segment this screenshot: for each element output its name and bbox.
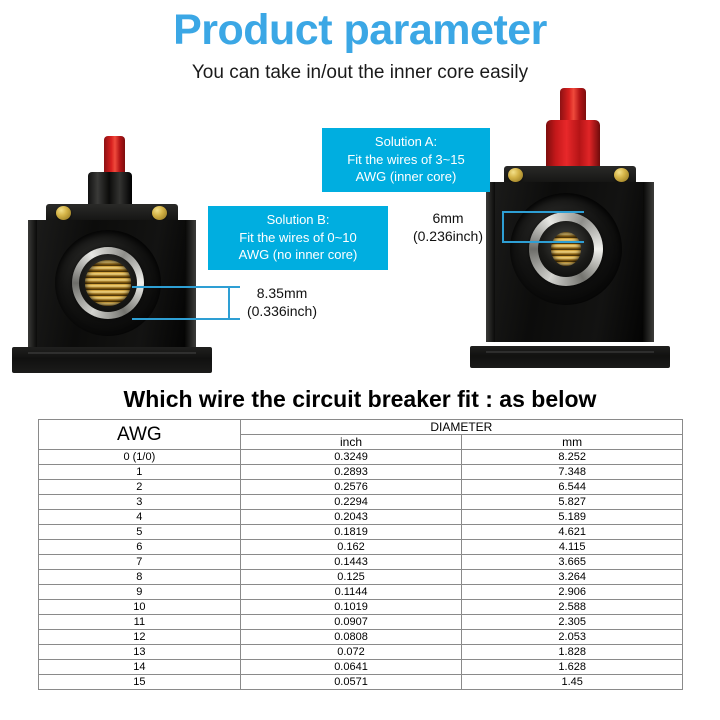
cell-awg: 15: [39, 675, 241, 690]
cell-inch: 0.1019: [240, 600, 462, 615]
terminal-screw-right-b: [614, 168, 629, 182]
table-row: 40.20435.189: [39, 510, 683, 525]
cell-awg: 1: [39, 465, 241, 480]
table-head: AWG DIAMETER inch mm: [39, 420, 683, 450]
chrome-ring-inner-right: [538, 221, 594, 277]
cell-awg: 6: [39, 540, 241, 555]
wire-port-right: [510, 193, 622, 305]
solution-b-line1: Solution B:: [216, 211, 380, 229]
table-row: 90.11442.906: [39, 585, 683, 600]
cell-mm: 2.305: [462, 615, 683, 630]
table-row: 30.22945.827: [39, 495, 683, 510]
table-row: 20.25766.544: [39, 480, 683, 495]
dimension-bracket-right: [502, 211, 504, 243]
table-row: 60.1624.115: [39, 540, 683, 555]
cell-awg: 12: [39, 630, 241, 645]
cell-mm: 3.264: [462, 570, 683, 585]
cell-awg: 3: [39, 495, 241, 510]
cell-inch: 0.0571: [240, 675, 462, 690]
cell-mm: 1.828: [462, 645, 683, 660]
dimension-left-mm: 8.35mm: [232, 285, 332, 303]
cell-inch: 0.3249: [240, 450, 462, 465]
header-awg: AWG: [39, 420, 241, 450]
table-row: 80.1253.264: [39, 570, 683, 585]
cell-inch: 0.072: [240, 645, 462, 660]
wire-port-left: [55, 230, 161, 336]
table-row: 50.18194.621: [39, 525, 683, 540]
cell-inch: 0.0907: [240, 615, 462, 630]
table-header-row-1: AWG DIAMETER: [39, 420, 683, 435]
solution-a-line1: Solution A:: [330, 133, 482, 151]
solution-b-line2: Fit the wires of 0~10: [216, 229, 380, 247]
dimension-left-inch: (0.336inch): [232, 303, 332, 321]
cell-awg: 8: [39, 570, 241, 585]
cell-awg: 7: [39, 555, 241, 570]
leader-line-right-top: [502, 211, 584, 213]
cell-mm: 5.189: [462, 510, 683, 525]
brass-bore-left: [85, 260, 131, 306]
solution-b-line3: AWG (no inner core): [216, 246, 380, 264]
callout-solution-b: Solution B: Fit the wires of 0~10 AWG (n…: [208, 206, 388, 270]
breaker-body-right: [486, 182, 654, 342]
leader-line-right-bottom: [502, 241, 584, 243]
cell-inch: 0.0641: [240, 660, 462, 675]
header-diameter: DIAMETER: [240, 420, 682, 435]
table-row: 100.10192.588: [39, 600, 683, 615]
cell-inch: 0.2294: [240, 495, 462, 510]
table-row: 140.06411.628: [39, 660, 683, 675]
cell-mm: 5.827: [462, 495, 683, 510]
cell-mm: 4.115: [462, 540, 683, 555]
cell-inch: 0.2893: [240, 465, 462, 480]
header-mm: mm: [462, 435, 683, 450]
cell-inch: 0.1144: [240, 585, 462, 600]
cell-awg: 14: [39, 660, 241, 675]
reset-knob-right: [546, 120, 600, 170]
cell-inch: 0.1819: [240, 525, 462, 540]
table-row: 0 (1/0)0.32498.252: [39, 450, 683, 465]
terminal-screw-left-a: [56, 206, 71, 220]
cell-inch: 0.1443: [240, 555, 462, 570]
product-photo-stage: Solution A: Fit the wires of 3~15 AWG (i…: [0, 78, 720, 383]
cell-awg: 0 (1/0): [39, 450, 241, 465]
leader-line-left-top: [132, 286, 240, 288]
dimension-label-right: 6mm (0.236inch): [396, 210, 500, 245]
cell-inch: 0.0808: [240, 630, 462, 645]
cell-mm: 3.665: [462, 555, 683, 570]
terminal-screw-right-a: [508, 168, 523, 182]
cell-inch: 0.2576: [240, 480, 462, 495]
dimension-label-left: 8.35mm (0.336inch): [232, 285, 332, 320]
table-row: 10.28937.348: [39, 465, 683, 480]
cell-awg: 13: [39, 645, 241, 660]
cell-awg: 10: [39, 600, 241, 615]
cell-mm: 8.252: [462, 450, 683, 465]
breaker-photo-right: [470, 88, 670, 368]
table-row: 120.08082.053: [39, 630, 683, 645]
dimension-right-mm: 6mm: [396, 210, 500, 228]
callout-solution-a: Solution A: Fit the wires of 3~15 AWG (i…: [322, 128, 490, 192]
cell-inch: 0.125: [240, 570, 462, 585]
mounting-foot-left: [12, 347, 212, 373]
brass-bore-right: [551, 232, 581, 266]
page-title: Product parameter: [0, 8, 720, 53]
cell-inch: 0.162: [240, 540, 462, 555]
table-row: 110.09072.305: [39, 615, 683, 630]
reset-knob-collar-left: [88, 172, 132, 208]
leader-line-left-bottom: [132, 318, 240, 320]
mounting-foot-right: [470, 346, 670, 368]
chrome-ring-left: [72, 247, 144, 319]
header-inch: inch: [240, 435, 462, 450]
table-row: 150.05711.45: [39, 675, 683, 690]
cell-awg: 11: [39, 615, 241, 630]
cell-awg: 9: [39, 585, 241, 600]
cell-inch: 0.2043: [240, 510, 462, 525]
table-row: 130.0721.828: [39, 645, 683, 660]
table-heading: Which wire the circuit breaker fit : as …: [0, 386, 720, 413]
chrome-ring-inner-left: [79, 254, 137, 312]
awg-diameter-table: AWG DIAMETER inch mm 0 (1/0)0.32498.2521…: [38, 419, 683, 690]
dimension-bracket-left: [228, 286, 230, 320]
breaker-photo-left: [12, 158, 212, 373]
cell-mm: 7.348: [462, 465, 683, 480]
cell-awg: 2: [39, 480, 241, 495]
cell-awg: 4: [39, 510, 241, 525]
chrome-ring-right: [529, 212, 603, 286]
cell-mm: 1.45: [462, 675, 683, 690]
cell-mm: 6.544: [462, 480, 683, 495]
table-row: 70.14433.665: [39, 555, 683, 570]
cell-mm: 2.906: [462, 585, 683, 600]
cell-mm: 2.588: [462, 600, 683, 615]
cell-mm: 1.628: [462, 660, 683, 675]
cell-awg: 5: [39, 525, 241, 540]
solution-a-line3: AWG (inner core): [330, 168, 482, 186]
dimension-right-inch: (0.236inch): [396, 228, 500, 246]
cell-mm: 2.053: [462, 630, 683, 645]
reset-button-stem-left: [104, 136, 125, 176]
solution-a-line2: Fit the wires of 3~15: [330, 151, 482, 169]
table-body: 0 (1/0)0.32498.25210.28937.34820.25766.5…: [39, 450, 683, 690]
cell-mm: 4.621: [462, 525, 683, 540]
terminal-screw-left-b: [152, 206, 167, 220]
